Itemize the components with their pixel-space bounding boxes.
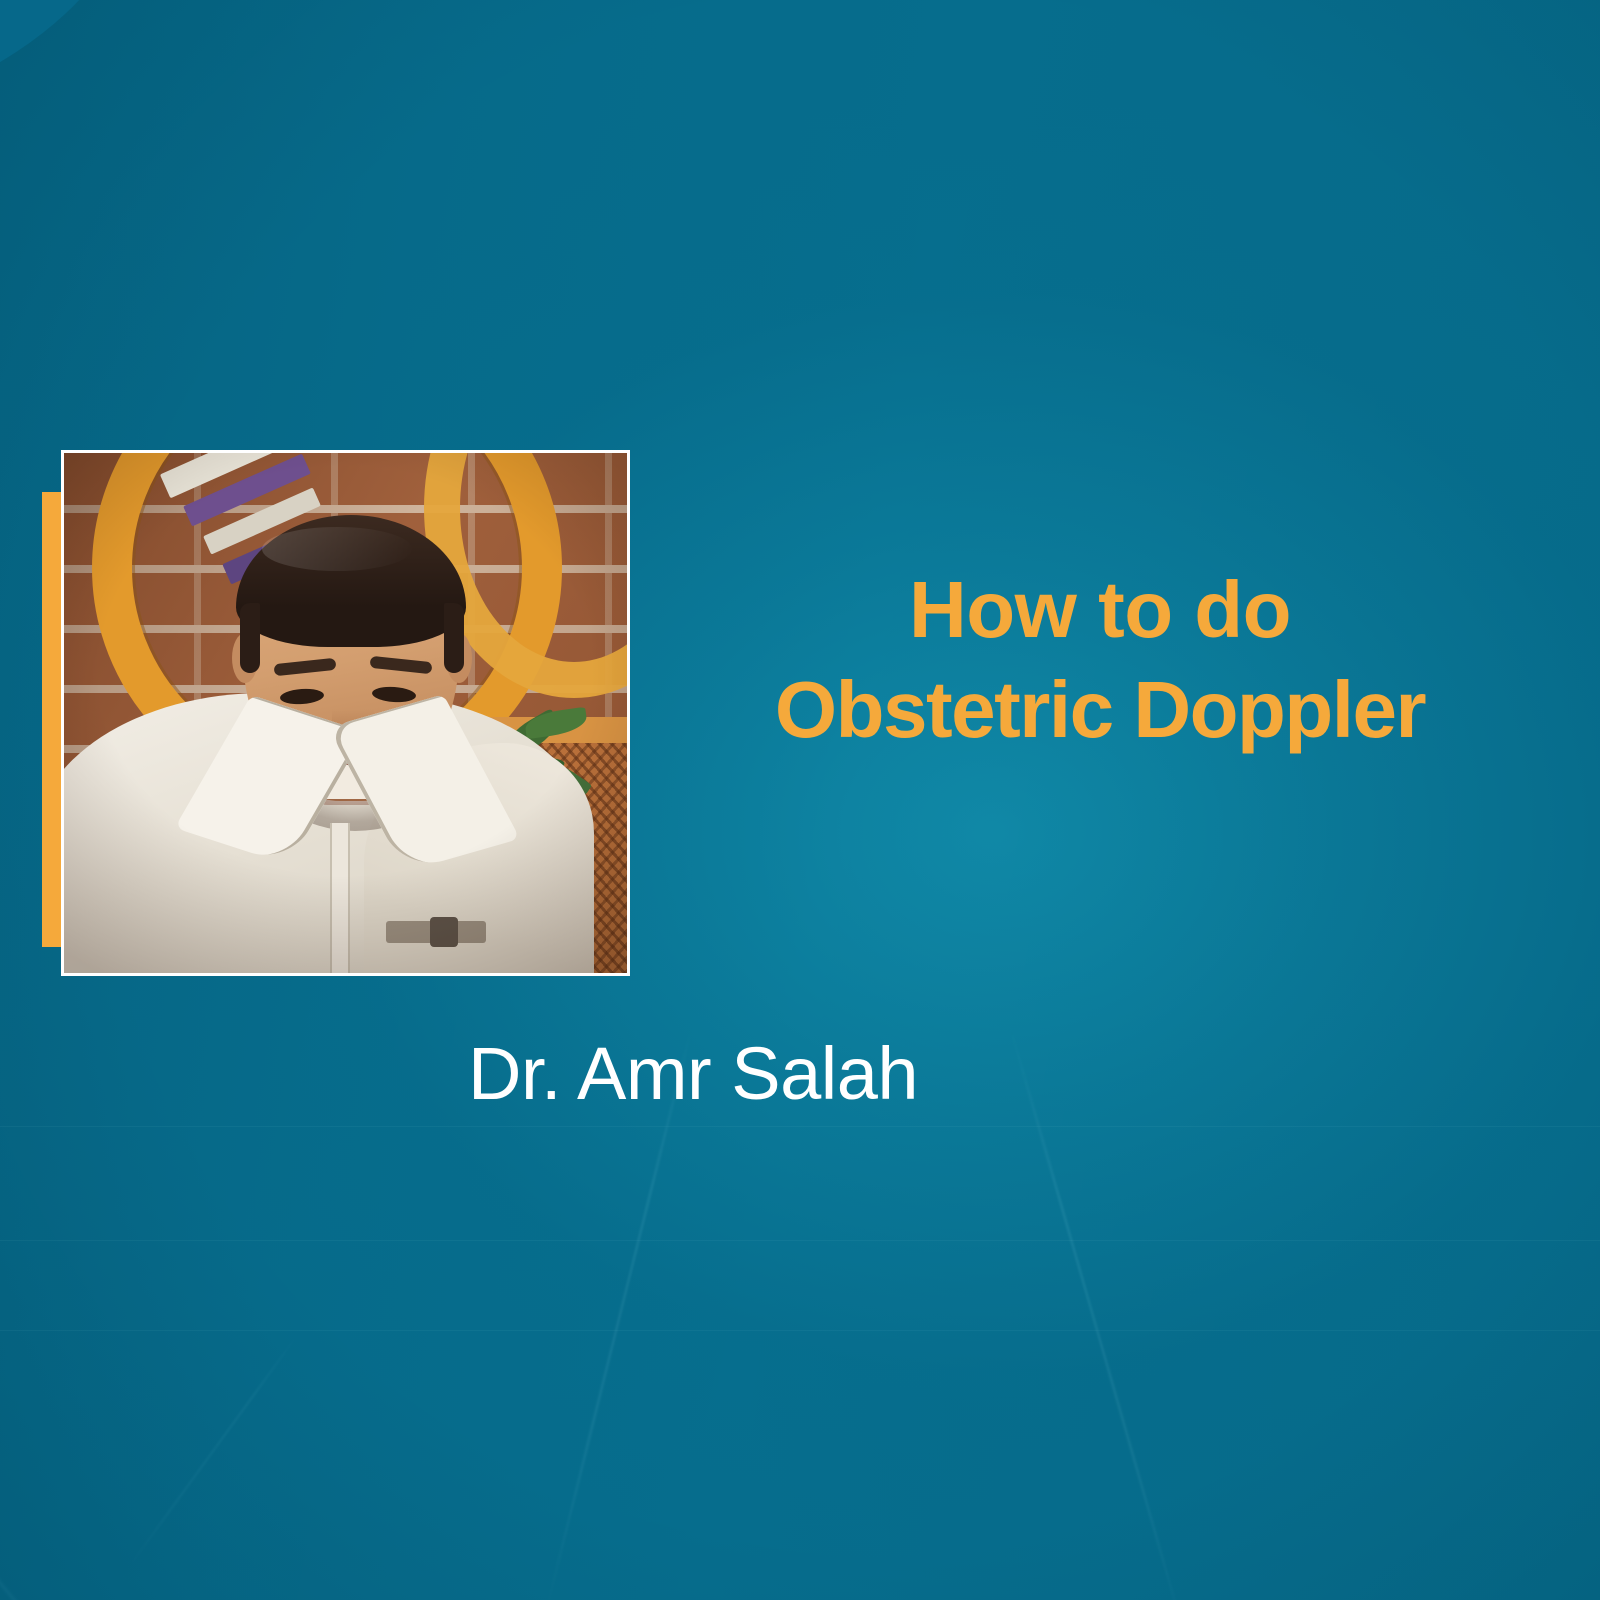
slide-title-line-2: Obstetric Doppler [700, 660, 1500, 760]
photo-plant-leaf [524, 707, 589, 739]
slide-title: How to do Obstetric Doppler [700, 560, 1500, 760]
photo-person-sideburn-right [444, 603, 464, 673]
title-slide: How to do Obstetric Doppler Dr. Amr Sala… [0, 0, 1600, 1600]
photo-shirt-logo [386, 921, 486, 943]
presenter-photo [64, 453, 627, 973]
slide-title-line-1: How to do [700, 560, 1500, 660]
photo-shirt-placket [332, 823, 348, 973]
presenter-photo-frame [61, 450, 630, 976]
presenter-name: Dr. Amr Salah [468, 1031, 918, 1117]
photo-person-sideburn-left [240, 603, 260, 673]
